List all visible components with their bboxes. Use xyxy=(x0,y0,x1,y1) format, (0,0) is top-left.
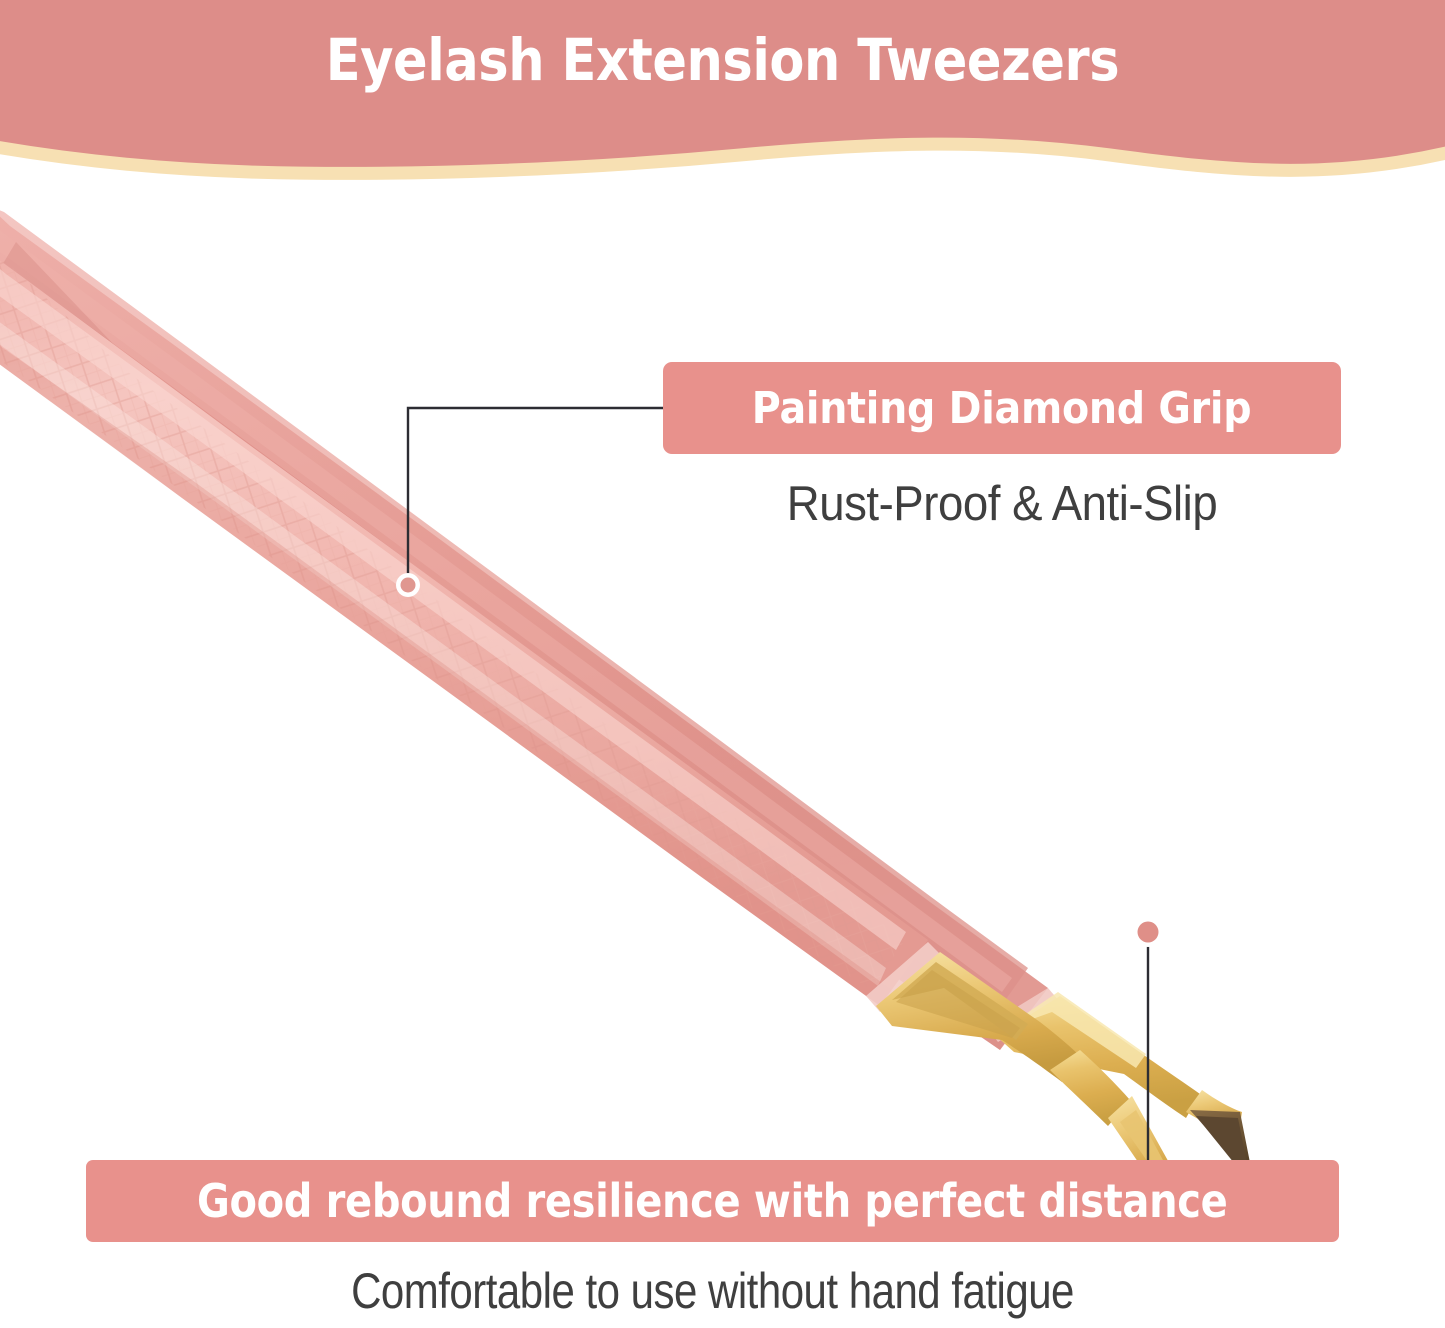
callout-label-good-rebound-resilience: Good rebound resilience with perfect dis… xyxy=(197,1174,1227,1228)
callout-label-painting-diamond-grip: Painting Diamond Grip xyxy=(752,383,1252,434)
callout-box-painting-diamond-grip: Painting Diamond Grip xyxy=(663,362,1341,454)
product-infographic: Eyelash Extension Tweezers xyxy=(0,0,1445,1328)
callout-subtitle-good-rebound-resilience: Comfortable to use without hand fatigue xyxy=(186,1262,1239,1320)
tweezer-product-image: Ms.W xyxy=(0,150,1445,1170)
callout-box-good-rebound-resilience: Good rebound resilience with perfect dis… xyxy=(86,1160,1339,1242)
page-title: Eyelash Extension Tweezers xyxy=(87,30,1359,91)
callout-subtitle-painting-diamond-grip: Rust-Proof & Anti-Slip xyxy=(687,476,1318,532)
